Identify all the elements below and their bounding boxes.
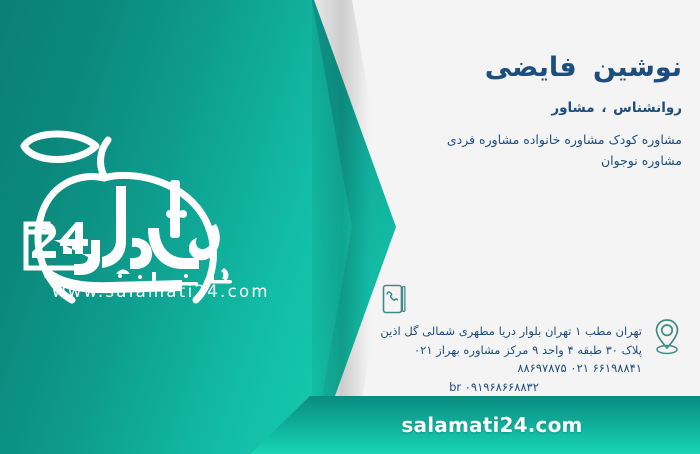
phone-book-icon (379, 282, 411, 316)
footer-website: salamati24.com (367, 413, 582, 437)
contact-address: تهران مطب ١ تهران بلوار دریا مطهری شمالی… (370, 320, 642, 397)
person-role: روانشناس ، مشاور (352, 100, 682, 116)
contact-row-address: تهران مطب ١ تهران بلوار دریا مطهری شمالی… (370, 320, 700, 397)
logo-website: www.salamati24.com (52, 282, 270, 301)
person-services: مشاوره کودک مشاوره خانواده مشاوره فردی م… (426, 130, 682, 171)
business-card: www.salamati24.com نوشین فایضی روانشناس … (0, 0, 700, 454)
map-pin-icon (651, 320, 683, 354)
footer-bar: salamati24.com (250, 396, 700, 454)
contact-row-phone (370, 282, 700, 316)
person-name: نوشین فایضی (352, 52, 682, 84)
mobile-number: br ٠٩١٩۶٨۶۶٨٨٣٢ (370, 378, 642, 397)
contact-block: تهران مطب ١ تهران بلوار دریا مطهری شمالی… (370, 282, 700, 397)
logo (20, 128, 282, 308)
brand-wordmark (44, 180, 220, 293)
